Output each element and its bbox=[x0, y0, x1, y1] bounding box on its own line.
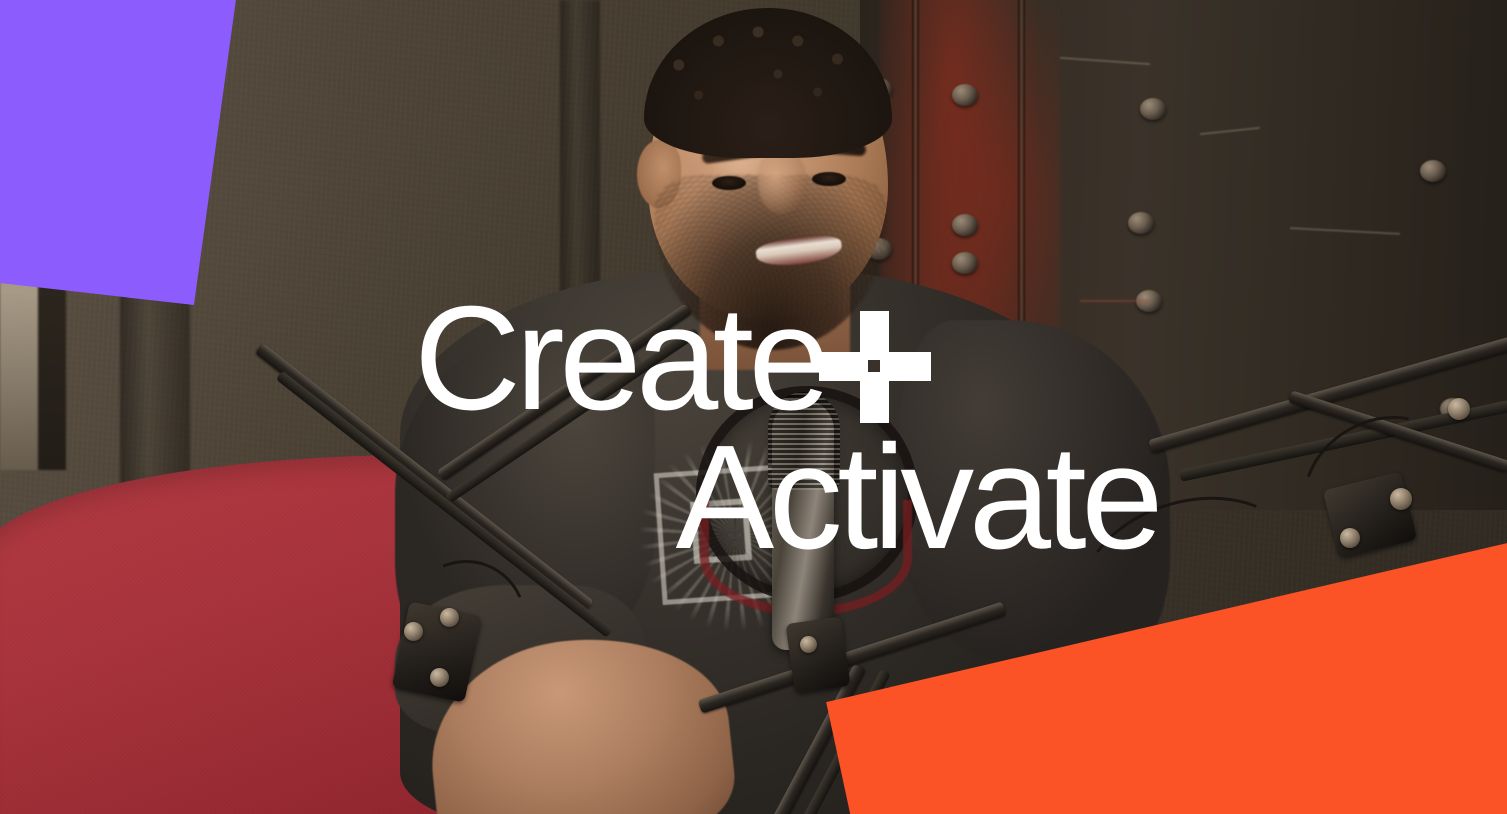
boom-clamp bbox=[785, 616, 850, 693]
eye-right bbox=[812, 172, 846, 186]
microphone-grille bbox=[768, 392, 840, 490]
promo-banner: Create Activate bbox=[0, 0, 1507, 814]
hair bbox=[644, 8, 892, 158]
hair-texture bbox=[644, 8, 892, 158]
eye-left bbox=[712, 176, 746, 190]
clamp-knob bbox=[1448, 398, 1470, 420]
clamp-knob bbox=[800, 636, 817, 653]
